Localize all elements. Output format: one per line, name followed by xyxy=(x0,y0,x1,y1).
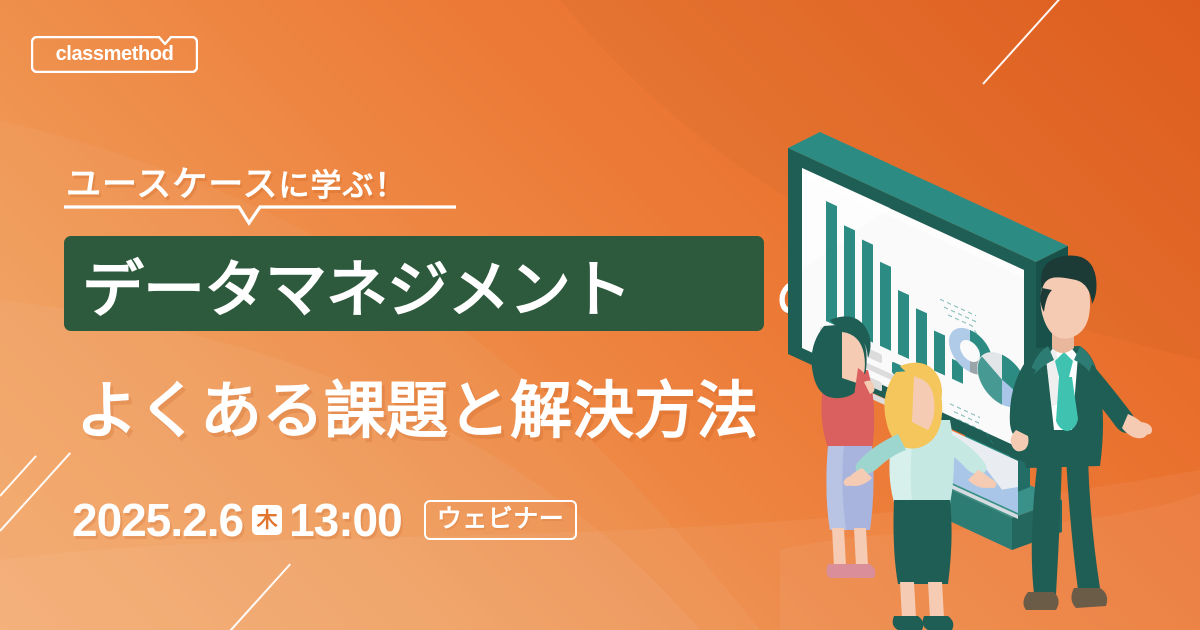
kicker-tail: に学ぶ！ xyxy=(279,168,407,203)
event-format-badge: ウェビナー xyxy=(424,500,578,539)
event-date: 2025.2.6 xyxy=(72,496,243,544)
event-datetime-row: 2025.2.6 木 13:00 ウェビナー xyxy=(72,496,577,544)
subline-text: よくある課題と解決方法 xyxy=(76,360,758,450)
person-woman-dark-hair xyxy=(812,316,876,578)
webinar-banner: classmethod ユースケースに学ぶ！ データマネジメント の よくある課… xyxy=(0,0,1200,630)
event-weekday-chip: 木 xyxy=(252,505,282,535)
event-time: 13:00 xyxy=(289,496,402,544)
kicker-main: ユースケース xyxy=(66,165,279,204)
kicker-text: ユースケースに学ぶ！ xyxy=(66,156,407,207)
illustration-business-dashboard xyxy=(780,120,1200,630)
kicker-underline-with-pointer-icon xyxy=(64,203,456,227)
logo-wordmark: classmethod xyxy=(31,36,198,73)
classmethod-logo[interactable]: classmethod xyxy=(31,36,198,73)
highlight-text: データマネジメント xyxy=(82,239,752,328)
